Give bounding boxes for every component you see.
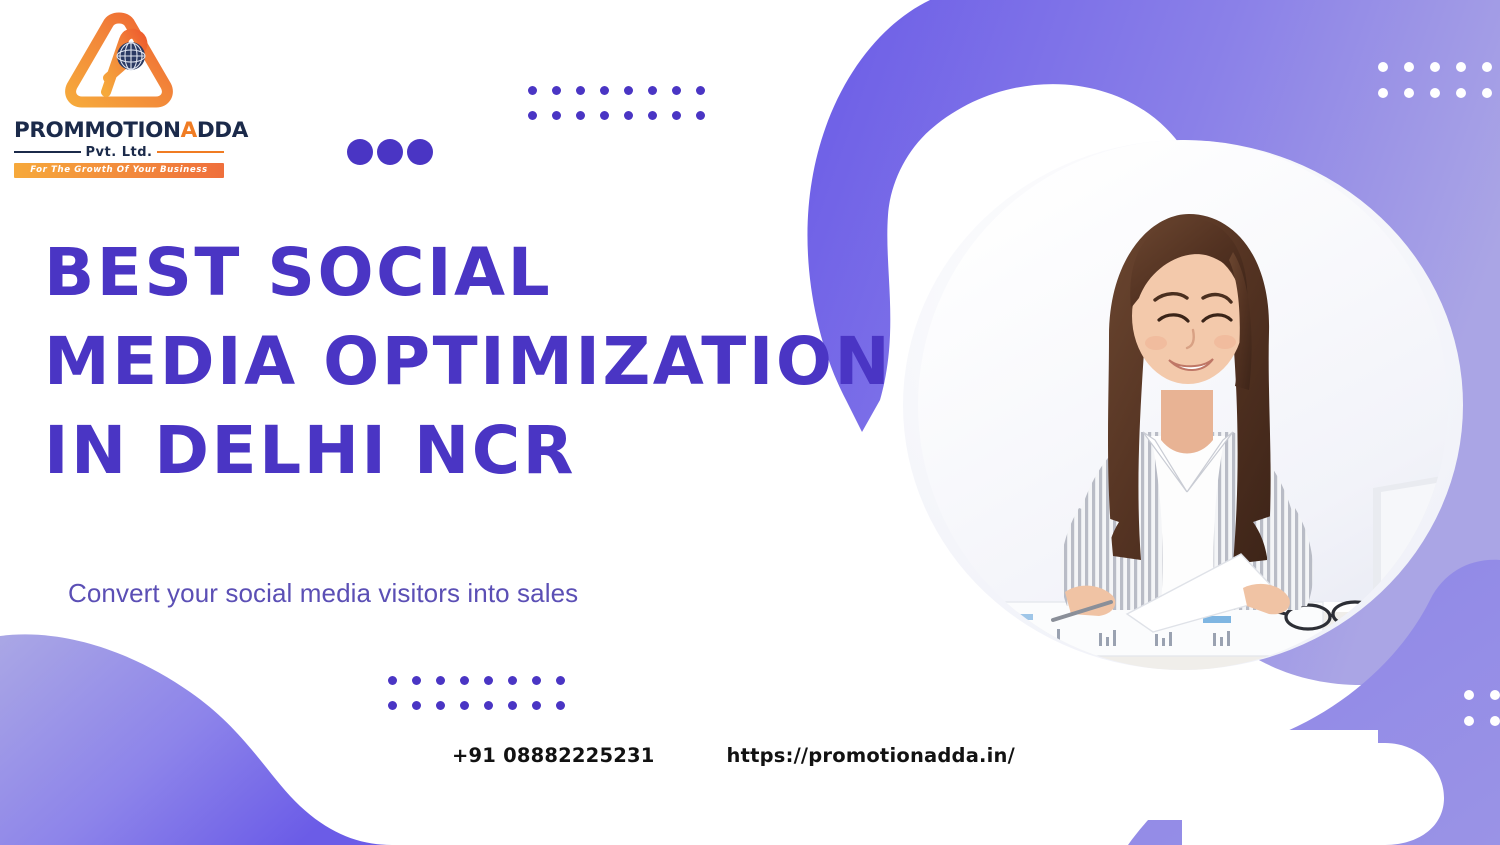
subheading: Convert your social media visitors into … (68, 578, 578, 609)
logo-wordmark-part2: DDA (197, 118, 248, 143)
dot (528, 111, 537, 120)
dot (1378, 62, 1388, 72)
woman-at-desk-illustration (903, 140, 1463, 670)
dot (1404, 62, 1414, 72)
dot (1482, 88, 1492, 98)
dot (460, 676, 469, 685)
dot (508, 701, 517, 710)
dot (528, 86, 537, 95)
dot-grid-top (528, 86, 720, 136)
dot (556, 676, 565, 685)
dot (672, 111, 681, 120)
dot-grid-top-right-white (1378, 62, 1500, 114)
large-dot (377, 139, 403, 165)
page-title: BEST SOCIAL MEDIA OPTIMIZATION IN DELHI … (44, 228, 924, 495)
dot (648, 111, 657, 120)
dot (508, 676, 517, 685)
triangle-globe-logo-icon (58, 6, 180, 118)
headline-line-1: BEST SOCIAL (44, 228, 924, 317)
dot (1456, 88, 1466, 98)
brand-logo[interactable]: PROMMOTIONADDA Pvt. Ltd. For The Growth … (14, 6, 224, 178)
dot (532, 676, 541, 685)
contact-strip: +91 08882225231 https://promotionadda.in… (452, 744, 1015, 767)
headline-line-2: MEDIA OPTIMIZATION (44, 317, 924, 406)
bottom-left-wave-shape (0, 634, 392, 845)
logo-entity-suffix: Pvt. Ltd. (86, 145, 153, 160)
dot (1464, 716, 1474, 726)
dot (412, 676, 421, 685)
three-large-dots (347, 139, 437, 165)
dot (552, 86, 561, 95)
logo-wordmark-accent: A (181, 118, 197, 143)
dot (672, 86, 681, 95)
promotional-banner: PROMMOTIONADDA Pvt. Ltd. For The Growth … (0, 0, 1500, 845)
dot (696, 111, 705, 120)
dot (532, 701, 541, 710)
headline-line-3: IN DELHI NCR (44, 406, 924, 495)
dot (436, 676, 445, 685)
dot (696, 86, 705, 95)
dot (1430, 88, 1440, 98)
dot (388, 676, 397, 685)
dot (1430, 62, 1440, 72)
dot (648, 86, 657, 95)
dot (556, 701, 565, 710)
logo-rule-right (157, 151, 224, 153)
logo-entity-row: Pvt. Ltd. (14, 145, 224, 160)
dot (388, 701, 397, 710)
dot-grid-bottom (388, 676, 580, 726)
dot-grid-bottom-right-white (1464, 690, 1500, 742)
logo-wordmark-part1: PROMMOTION (14, 118, 181, 143)
dot (1404, 88, 1414, 98)
dot (1378, 88, 1388, 98)
dot (436, 701, 445, 710)
dot (552, 111, 561, 120)
dot (576, 111, 585, 120)
dot (484, 701, 493, 710)
dot (576, 86, 585, 95)
dot (1482, 62, 1492, 72)
white-wedge-accent (1140, 730, 1378, 745)
logo-tagline: For The Growth Of Your Business (14, 163, 224, 178)
dot (1456, 62, 1466, 72)
dot (624, 111, 633, 120)
dot (600, 111, 609, 120)
large-dot (347, 139, 373, 165)
white-pill-accent-shape (1140, 743, 1444, 845)
dot (600, 86, 609, 95)
logo-rule-left (14, 151, 81, 153)
dot (460, 701, 469, 710)
dot (1464, 690, 1474, 700)
dot (484, 676, 493, 685)
contact-website-link[interactable]: https://promotionadda.in/ (727, 744, 1015, 767)
contact-phone[interactable]: +91 08882225231 (452, 744, 655, 767)
hero-photo-circle (903, 140, 1463, 670)
large-dot (407, 139, 433, 165)
dot (1490, 716, 1500, 726)
dot (1490, 690, 1500, 700)
dot (412, 701, 421, 710)
dot (624, 86, 633, 95)
logo-wordmark: PROMMOTIONADDA (14, 120, 224, 142)
